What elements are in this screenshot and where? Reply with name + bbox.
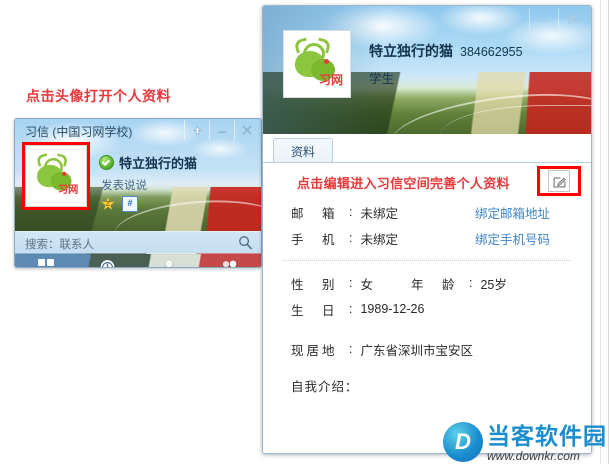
avatar[interactable]: 习网 — [25, 145, 87, 207]
watermark-logo-icon: D — [443, 422, 483, 462]
profile-uid: 384662955 — [460, 45, 523, 59]
watermark-text: 当客软件园 www.downkr.com — [487, 425, 607, 462]
search-icon[interactable] — [238, 235, 253, 253]
field-location-colon: : — [349, 342, 352, 356]
profile-window[interactable]: 习网 特立独行的猫 384662955 学生 资料 点击编辑进入习信空间完善个人… — [262, 5, 592, 454]
field-gender-age: 性 别 : 女 年 龄 : 25岁 — [263, 270, 591, 296]
profile-role: 学生 — [369, 68, 394, 87]
badge-list: Z # — [101, 196, 138, 212]
profile-avatar[interactable]: 习网 — [283, 30, 351, 98]
field-birthday: 生 日 : 1989-12-26 — [263, 296, 591, 322]
small-nickname[interactable]: 特立独行的猫 — [119, 153, 197, 172]
field-email-colon: : — [349, 205, 352, 219]
section-divider — [283, 260, 571, 261]
small-window-title: 习信 (中国习网学校) — [25, 123, 132, 140]
pin-icon[interactable] — [184, 120, 209, 140]
close-icon[interactable] — [234, 120, 259, 140]
small-nickname-row: 特立独行的猫 — [99, 153, 197, 172]
toolbar-contacts-button[interactable] — [138, 259, 200, 269]
page-right-border-inner — [600, 0, 601, 464]
field-age-value: 25岁 — [480, 274, 506, 293]
toolbar-recent-button[interactable] — [77, 259, 139, 269]
field-email-value: 未绑定 — [360, 203, 398, 222]
pencil-square-icon — [553, 175, 566, 188]
field-age-label: 年 龄 — [411, 274, 469, 293]
toolbar-apps-button[interactable] — [15, 259, 77, 268]
edit-profile-highlight — [537, 166, 581, 196]
field-intro-label: 自我介绍： — [263, 376, 591, 402]
field-gender-value: 女 — [360, 274, 373, 293]
profile-window-controls — [529, 8, 587, 30]
star-badge-icon[interactable]: Z — [101, 197, 115, 211]
edit-profile-banner: 点击编辑进入习信空间完善个人资料 — [263, 163, 591, 199]
toolbar-groups-button[interactable] — [200, 259, 262, 269]
field-phone-label: 手 机 — [291, 229, 349, 248]
star-badge-text: Z — [106, 201, 110, 208]
clock-icon — [99, 259, 116, 269]
minimize-icon[interactable] — [529, 9, 558, 29]
watermark: D 当客软件园 www.downkr.com — [443, 422, 607, 462]
profile-tabbar[interactable]: 资料 — [263, 138, 591, 162]
xixin-main-window[interactable]: 习信 (中国习网学校) 习网 — [14, 118, 262, 268]
logo-text: 习网 — [58, 182, 79, 197]
field-birthday-colon: : — [349, 302, 352, 316]
small-window-controls — [184, 119, 259, 141]
small-window-titlebar[interactable]: 习信 (中国习网学校) — [15, 119, 261, 141]
watermark-site-name: 当客软件园 — [487, 425, 607, 448]
xiwang-logo-icon: 习网 — [291, 39, 343, 89]
field-phone-colon: : — [349, 231, 352, 245]
field-birthday-value: 1989-12-26 — [360, 302, 424, 316]
edit-profile-hint: 点击编辑进入习信空间完善个人资料 — [297, 173, 510, 192]
bind-phone-link[interactable]: 绑定手机号码 — [475, 229, 550, 248]
group-icon — [220, 259, 240, 269]
watermark-url: www.downkr.com — [487, 450, 607, 462]
bottom-toolbar[interactable] — [15, 253, 261, 268]
search-bar[interactable]: 搜索：联系人 — [15, 231, 261, 255]
edit-profile-button[interactable] — [548, 170, 570, 192]
field-location: 现居地 : 广东省深圳市宝安区 — [263, 336, 591, 362]
field-phone: 手 机 : 未绑定 绑定手机号码 — [263, 225, 591, 251]
page-root: 点击头像打开个人资料 习信 (中国习网学校) — [0, 0, 609, 464]
field-location-value: 广东省深圳市宝安区 — [360, 340, 473, 359]
field-age-colon: : — [469, 276, 472, 290]
field-email-label: 邮 箱 — [291, 203, 349, 222]
profile-nickname-row: 特立独行的猫 384662955 — [369, 41, 523, 61]
minimize-icon[interactable] — [209, 120, 234, 140]
profile-nickname: 特立独行的猫 — [369, 41, 453, 61]
field-gender-colon: : — [349, 276, 352, 290]
tab-ziliao[interactable]: 资料 — [273, 138, 333, 163]
grid-icon — [38, 259, 54, 268]
person-icon — [161, 259, 177, 269]
field-location-label: 现居地 — [291, 340, 349, 359]
field-phone-value: 未绑定 — [360, 229, 398, 248]
online-status-icon — [99, 155, 114, 170]
profile-body: 点击编辑进入习信空间完善个人资料 邮 箱 : 未绑定 绑定邮箱地址 — [263, 162, 591, 453]
post-mood-link[interactable]: 发表说说 — [101, 177, 147, 193]
field-email: 邮 箱 : 未绑定 绑定邮箱地址 — [263, 199, 591, 225]
search-input[interactable]: 搜索：联系人 — [25, 236, 94, 252]
blue-badge-icon[interactable]: # — [122, 196, 138, 212]
annotation-avatar-hint: 点击头像打开个人资料 — [26, 86, 171, 106]
close-icon[interactable] — [558, 9, 587, 29]
field-gender-label: 性 别 — [291, 274, 349, 293]
bind-email-link[interactable]: 绑定邮箱地址 — [475, 203, 550, 222]
logo-text: 习网 — [319, 71, 343, 88]
field-birthday-label: 生 日 — [291, 300, 349, 319]
xiwang-logo-icon: 习网 — [34, 155, 79, 198]
